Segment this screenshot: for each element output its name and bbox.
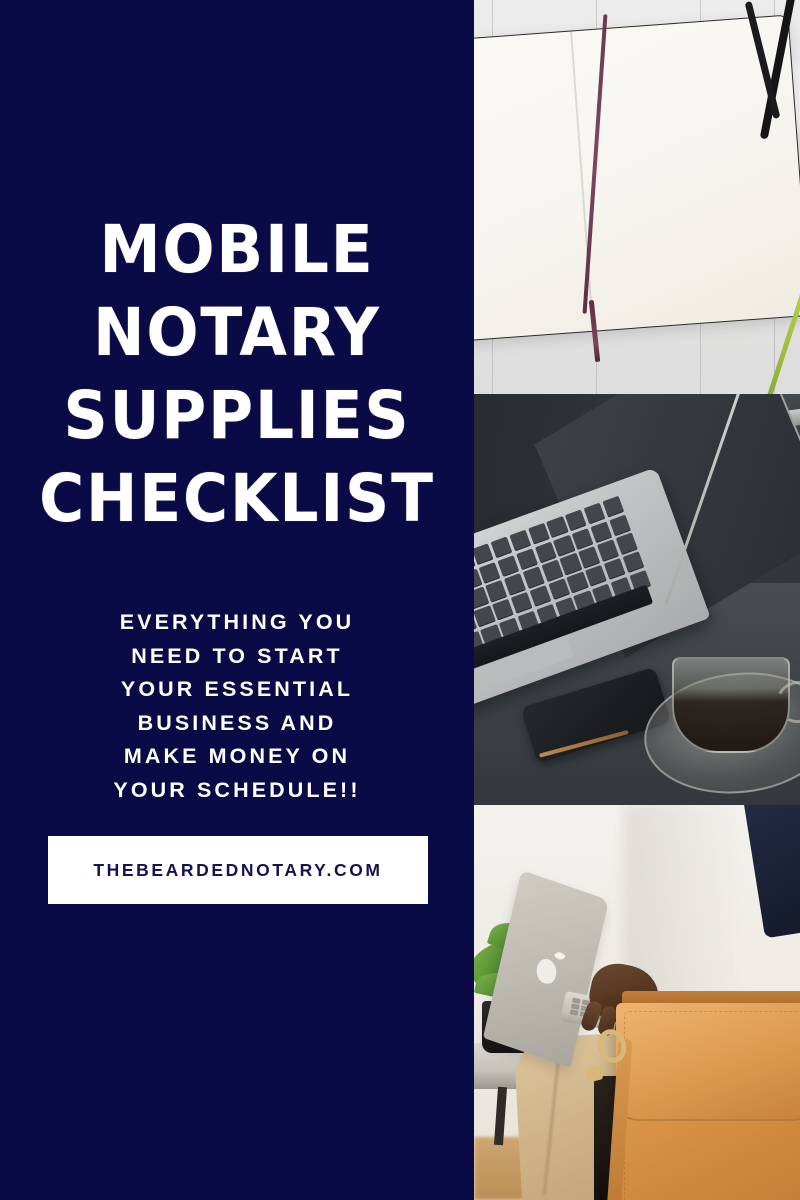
page-title: MOBILE NOTARY SUPPLIES CHECKLIST [0, 208, 474, 540]
subtitle-line-5: MAKE MONEY ON [37, 740, 437, 774]
subtitle-line-3: YOUR ESSENTIAL [37, 673, 437, 707]
subtitle: EVERYTHING YOU NEED TO START YOUR ESSENT… [37, 606, 437, 807]
coffee-cup-icon [672, 657, 790, 753]
notebook-fold [570, 31, 594, 330]
title-line-3: SUPPLIES [17, 374, 458, 457]
subtitle-line-1: EVERYTHING YOU [37, 606, 437, 640]
title-line-4: CHECKLIST [17, 457, 458, 540]
subtitle-line-2: NEED TO START [37, 640, 437, 674]
notebook-icon [474, 15, 800, 344]
photo-laptop-coffee [474, 394, 800, 805]
photo-column [474, 0, 800, 1200]
subtitle-line-4: BUSINESS AND [37, 707, 437, 741]
title-line-2: NOTARY [17, 291, 458, 374]
photo-person-bag [474, 805, 800, 1200]
photo-notebook [474, 0, 800, 394]
website-url-banner[interactable]: THEBEARDEDNOTARY.COM [48, 836, 428, 904]
bag-flap [616, 1003, 800, 1121]
text-column: MOBILE NOTARY SUPPLIES CHECKLIST EVERYTH… [0, 0, 474, 1200]
website-url-text: THEBEARDEDNOTARY.COM [93, 860, 382, 881]
apple-logo-icon [536, 957, 556, 984]
title-line-1: MOBILE [17, 208, 458, 291]
pin-graphic: MOBILE NOTARY SUPPLIES CHECKLIST EVERYTH… [0, 0, 800, 1200]
leather-bag-icon [616, 1003, 800, 1200]
subtitle-line-6: YOUR SCHEDULE!! [37, 774, 437, 808]
apple-logo-leaf [553, 950, 565, 962]
